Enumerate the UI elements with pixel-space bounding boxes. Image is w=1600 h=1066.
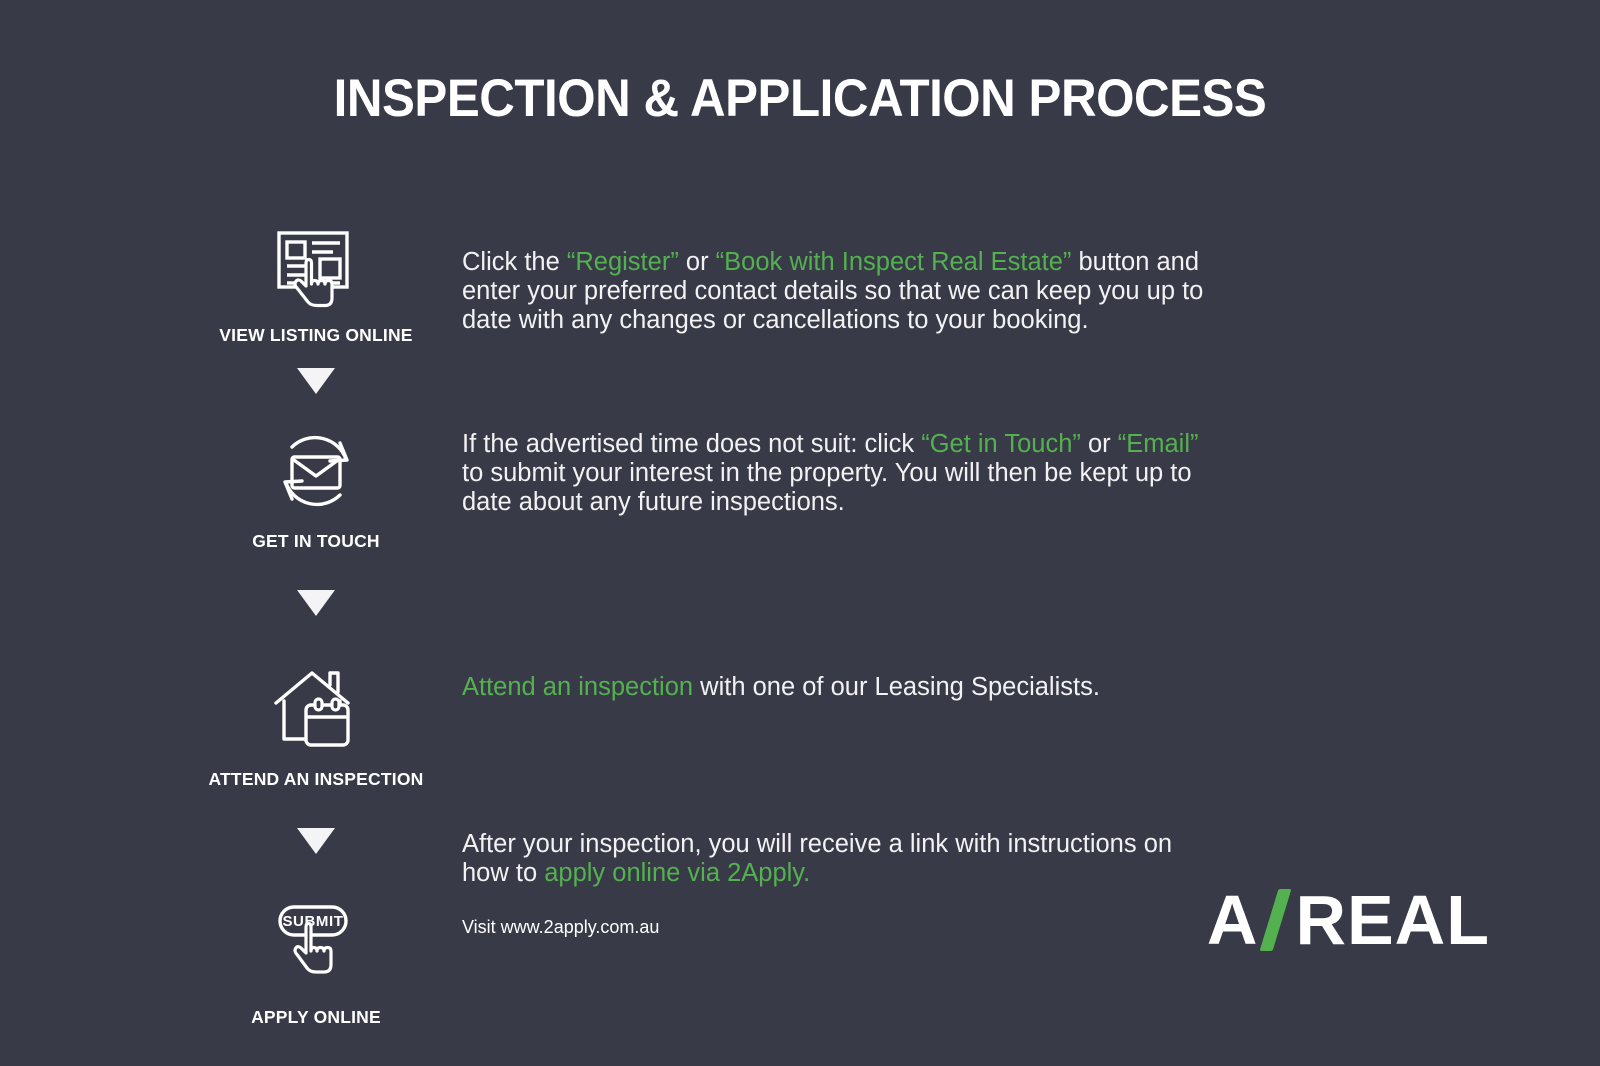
logo-letter-a: A: [1207, 887, 1259, 953]
step-3-icon-block: ATTEND AN INSPECTION: [196, 659, 436, 790]
highlight-register: “Register”: [567, 248, 679, 276]
text-segment: to submit your interest in the property.…: [462, 459, 1192, 516]
highlight-email: “Email”: [1118, 430, 1199, 458]
step-1-icon-block: VIEW LISTING ONLINE: [196, 215, 436, 346]
highlight-book-with-inspect-real-estate: “Book with Inspect Real Estate”: [716, 248, 1072, 276]
step-4-description: After your inspection, you will receive …: [462, 830, 1222, 938]
brand-logo: A REAL: [1207, 887, 1490, 953]
visit-url-note: Visit www.2apply.com.au: [462, 916, 1222, 938]
svg-text:SUBMIT: SUBMIT: [282, 913, 343, 930]
step-1-description: Click the “Register” or “Book with Inspe…: [462, 248, 1222, 335]
step-1-label: VIEW LISTING ONLINE: [196, 325, 436, 346]
text-segment: or: [1081, 430, 1118, 458]
listing-page-cursor-icon: [196, 215, 436, 315]
step-4-icon-block: SUBMIT APPLY ONLINE: [196, 897, 436, 1028]
arrow-down-3: [196, 828, 436, 859]
step-2-icon-block: GET IN TOUCH: [196, 421, 436, 552]
text-segment: Click the: [462, 248, 567, 276]
text-segment: or: [679, 248, 716, 276]
step-3-description: Attend an inspection with one of our Lea…: [462, 673, 1222, 702]
arrow-down-2: [196, 590, 436, 621]
highlight-get-in-touch: “Get in Touch”: [921, 430, 1081, 458]
step-3-label: ATTEND AN INSPECTION: [196, 769, 436, 790]
step-2-label: GET IN TOUCH: [196, 531, 436, 552]
highlight-apply-online-via-2apply: apply online via 2Apply.: [544, 859, 810, 887]
step-4-label: APPLY ONLINE: [196, 1007, 436, 1028]
logo-slash-icon: [1260, 889, 1292, 951]
envelope-refresh-icon: [196, 421, 436, 521]
text-segment: If the advertised time does not suit: cl…: [462, 430, 921, 458]
submit-button-cursor-icon: SUBMIT: [196, 897, 436, 997]
house-calendar-icon: [196, 659, 436, 759]
arrow-down-1: [196, 368, 436, 399]
logo-word-real: REAL: [1295, 887, 1490, 953]
process-flow-column: VIEW LISTING ONLINE GET IN TOUCH: [196, 215, 436, 1028]
highlight-attend-an-inspection: Attend an inspection: [462, 673, 693, 701]
page-title: INSPECTION & APPLICATION PROCESS: [56, 68, 1544, 130]
text-segment: with one of our Leasing Specialists.: [693, 673, 1100, 701]
step-2-description: If the advertised time does not suit: cl…: [462, 430, 1222, 517]
